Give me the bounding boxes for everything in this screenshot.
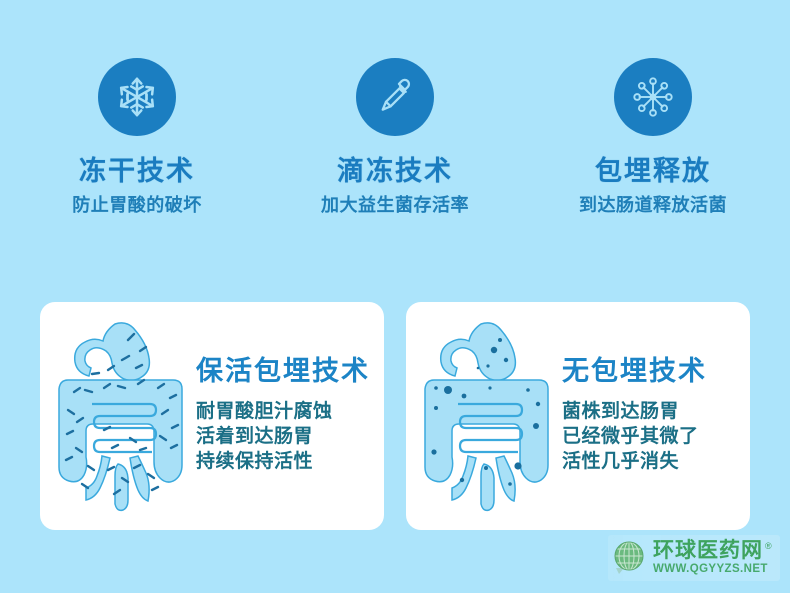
feature-title: 滴冻技术	[337, 158, 453, 185]
watermark-brand-label: 环球医药网	[653, 539, 763, 562]
watermark-url: WWW.QGYYZS.NET	[653, 563, 773, 577]
registered-mark: ®	[765, 541, 773, 551]
card-line: 活性几乎消失	[562, 449, 707, 474]
card-title: 无包埋技术	[562, 358, 707, 385]
feature-icon-badge	[614, 58, 692, 136]
card-no-encapsulation[interactable]: 无包埋技术 菌株到达肠胃 已经微乎其微了 活性几乎消失	[406, 302, 750, 530]
comparison-cards: 保活包埋技术 耐胃酸胆汁腐蚀 活着到达肠胃 持续保持活性	[40, 302, 750, 530]
feature-subtitle: 到达肠道释放活菌	[579, 196, 727, 214]
card-line: 活着到达肠胃	[196, 424, 370, 449]
snowflake-icon	[114, 74, 160, 120]
card-line: 已经微乎其微了	[562, 424, 707, 449]
card-line: 菌株到达肠胃	[562, 399, 707, 424]
feature-icon-badge	[356, 58, 434, 136]
feature-subtitle: 防止胃酸的破坏	[72, 196, 202, 214]
feature-title: 包埋释放	[595, 158, 711, 185]
watermark-text: 环球医药网® WWW.QGYYZS.NET	[653, 540, 773, 577]
feature-subtitle: 加大益生菌存活率	[321, 196, 469, 214]
intestine-icon	[418, 318, 556, 514]
feature-item-freeze-dry[interactable]: 冻干技术 防止胃酸的破坏	[17, 58, 257, 214]
molecule-icon	[630, 74, 676, 120]
card-title: 保活包埋技术	[196, 358, 370, 385]
feature-item-encapsulation-release[interactable]: 包埋释放 到达肠道释放活菌	[533, 58, 773, 214]
intestine-illustration-sparse	[416, 316, 558, 516]
card-protected-encapsulation[interactable]: 保活包埋技术 耐胃酸胆汁腐蚀 活着到达肠胃 持续保持活性	[40, 302, 384, 530]
watermark: 环球医药网® WWW.QGYYZS.NET	[608, 535, 780, 581]
intestine-illustration-dense	[50, 316, 192, 516]
feature-item-drop-freeze[interactable]: 滴冻技术 加大益生菌存活率	[275, 58, 515, 214]
feature-row: 冻干技术 防止胃酸的破坏 滴冻技术 加大益生菌存活率	[0, 58, 790, 214]
feature-icon-badge	[98, 58, 176, 136]
card-line: 持续保持活性	[196, 449, 370, 474]
dropper-icon	[373, 75, 417, 119]
card-text-block: 无包埋技术 菌株到达肠胃 已经微乎其微了 活性几乎消失	[562, 358, 707, 474]
globe-icon	[608, 536, 652, 580]
card-text-block: 保活包埋技术 耐胃酸胆汁腐蚀 活着到达肠胃 持续保持活性	[196, 358, 370, 474]
feature-title: 冻干技术	[79, 158, 195, 185]
watermark-brand: 环球医药网®	[653, 540, 773, 562]
card-line: 耐胃酸胆汁腐蚀	[196, 399, 370, 424]
intestine-icon	[52, 318, 190, 514]
